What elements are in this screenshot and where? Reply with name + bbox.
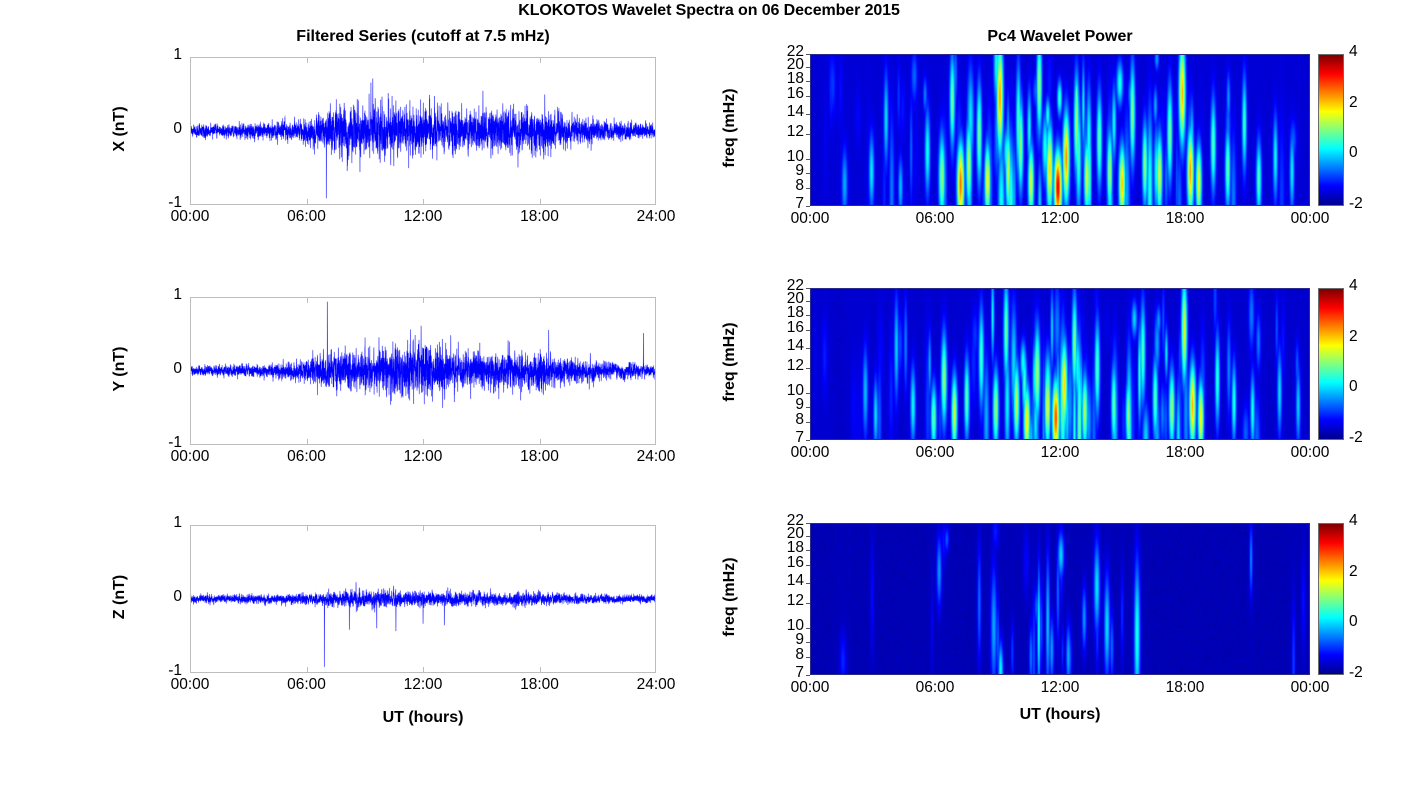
freq-tick-mark: [806, 81, 810, 82]
freq-tick-mark: [806, 565, 810, 566]
spectrogram-plot-X: [810, 54, 1310, 206]
colorbar: [1318, 288, 1344, 440]
freq-axis-label-Y: freq (mHz): [721, 282, 739, 442]
timeseries-plot-Z: [190, 525, 656, 673]
freq-tick-label: 12: [764, 357, 804, 375]
freq-tick-mark: [806, 67, 810, 68]
freq-tick-mark: [806, 330, 810, 331]
ytick-label: 1: [144, 514, 182, 532]
colorbar-tick-label: 4: [1349, 277, 1358, 295]
xtick-label: 18:00: [1140, 444, 1230, 462]
xtick-label: 24:00: [611, 448, 701, 466]
freq-axis-label-X: freq (mHz): [721, 48, 739, 208]
colorbar: [1318, 523, 1344, 675]
xtick-label: 00:00: [765, 444, 855, 462]
yaxis-label-Z: Z (nT): [111, 517, 129, 677]
right-column-title: Pc4 Wavelet Power: [810, 28, 1310, 46]
freq-tick-mark: [806, 675, 810, 676]
freq-tick-mark: [806, 348, 810, 349]
freq-tick-mark: [806, 407, 810, 408]
xtick-label: 06:00: [262, 448, 352, 466]
freq-tick-mark: [806, 206, 810, 207]
xtick-mark: [540, 667, 541, 673]
colorbar-tick-label: 2: [1349, 94, 1358, 112]
colorbar-tick-label: 0: [1349, 378, 1358, 396]
xtick-label: 18:00: [495, 448, 585, 466]
ytick-label: 0: [144, 360, 182, 378]
xtick-label: 06:00: [262, 676, 352, 694]
spectrogram-plot-Y: [810, 288, 1310, 440]
xtick-label: 12:00: [378, 676, 468, 694]
freq-tick-mark: [806, 368, 810, 369]
xtick-mark: [307, 525, 308, 531]
xtick-label: 00:00: [765, 210, 855, 228]
figure-canvas: KLOKOTOS Wavelet Spectra on 06 December …: [0, 0, 1418, 788]
left-xaxis-label: UT (hours): [190, 709, 656, 727]
xtick-label: 12:00: [378, 208, 468, 226]
colorbar: [1318, 54, 1344, 206]
xtick-mark: [307, 667, 308, 673]
freq-tick-mark: [806, 301, 810, 302]
xtick-mark: [423, 57, 424, 63]
xtick-mark: [423, 525, 424, 531]
colorbar-tick-label: -2: [1349, 429, 1363, 447]
colorbar-tick-label: 0: [1349, 144, 1358, 162]
figure-title: KLOKOTOS Wavelet Spectra on 06 December …: [0, 2, 1418, 20]
yaxis-label-Y: Y (nT): [111, 289, 129, 449]
freq-tick-label: 8: [764, 646, 804, 664]
freq-tick-mark: [806, 642, 810, 643]
colorbar-tick-label: -2: [1349, 195, 1363, 213]
freq-tick-mark: [806, 54, 810, 55]
ytick-label: 0: [144, 120, 182, 138]
xtick-mark: [423, 667, 424, 673]
colorbar-tick-label: 2: [1349, 563, 1358, 581]
xtick-label: 12:00: [1015, 679, 1105, 697]
yaxis-label-X: X (nT): [111, 49, 129, 209]
xtick-mark: [540, 525, 541, 531]
freq-tick-mark: [806, 159, 810, 160]
right-xaxis-label: UT (hours): [810, 706, 1310, 724]
colorbar-gradient: [1319, 55, 1343, 205]
xtick-mark: [307, 57, 308, 63]
freq-tick-label: 14: [764, 572, 804, 590]
left-column-title: Filtered Series (cutoff at 7.5 mHz): [190, 28, 656, 46]
xtick-mark: [540, 297, 541, 303]
freq-tick-mark: [806, 393, 810, 394]
xtick-label: 18:00: [495, 208, 585, 226]
timeseries-plot-X: [190, 57, 656, 205]
xtick-label: 06:00: [890, 679, 980, 697]
freq-tick-mark: [806, 288, 810, 289]
xtick-mark: [423, 439, 424, 445]
xtick-mark: [540, 57, 541, 63]
xtick-mark: [423, 199, 424, 205]
xtick-label: 00:00: [765, 679, 855, 697]
freq-tick-mark: [806, 583, 810, 584]
xtick-mark: [540, 199, 541, 205]
xtick-label: 24:00: [611, 208, 701, 226]
colorbar-tick-label: 0: [1349, 613, 1358, 631]
xtick-mark: [540, 439, 541, 445]
spectrogram-canvas-X: [811, 55, 1309, 205]
ytick-label: 1: [144, 46, 182, 64]
ytick-label: 0: [144, 588, 182, 606]
xtick-label: 00:00: [145, 448, 235, 466]
freq-tick-mark: [806, 523, 810, 524]
timeseries-canvas-X: [191, 58, 655, 204]
freq-tick-mark: [806, 422, 810, 423]
xtick-label: 06:00: [262, 208, 352, 226]
freq-tick-label: 8: [764, 411, 804, 429]
xtick-label: 12:00: [378, 448, 468, 466]
freq-tick-label: 14: [764, 103, 804, 121]
colorbar-tick-label: 2: [1349, 328, 1358, 346]
xtick-label: 24:00: [611, 676, 701, 694]
timeseries-canvas-Z: [191, 526, 655, 672]
freq-tick-label: 16: [764, 554, 804, 572]
freq-tick-label: 8: [764, 177, 804, 195]
freq-tick-mark: [806, 550, 810, 551]
spectrogram-canvas-Z: [811, 524, 1309, 674]
ytick-label: 1: [144, 286, 182, 304]
freq-tick-mark: [806, 603, 810, 604]
colorbar-gradient: [1319, 289, 1343, 439]
freq-tick-mark: [806, 440, 810, 441]
colorbar-gradient: [1319, 524, 1343, 674]
xtick-mark: [307, 199, 308, 205]
freq-tick-label: 12: [764, 592, 804, 610]
xtick-mark: [423, 297, 424, 303]
xtick-label: 18:00: [495, 676, 585, 694]
freq-tick-label: 16: [764, 85, 804, 103]
spectrogram-canvas-Y: [811, 289, 1309, 439]
timeseries-canvas-Y: [191, 298, 655, 444]
freq-tick-label: 16: [764, 319, 804, 337]
freq-tick-mark: [806, 114, 810, 115]
spectrogram-plot-Z: [810, 523, 1310, 675]
freq-axis-label-Z: freq (mHz): [721, 517, 739, 677]
freq-tick-label: 12: [764, 123, 804, 141]
colorbar-tick-label: 4: [1349, 512, 1358, 530]
xtick-label: 12:00: [1015, 210, 1105, 228]
freq-tick-mark: [806, 96, 810, 97]
freq-tick-mark: [806, 188, 810, 189]
xtick-label: 00:00: [1265, 444, 1355, 462]
xtick-label: 18:00: [1140, 679, 1230, 697]
freq-tick-mark: [806, 657, 810, 658]
xtick-label: 12:00: [1015, 444, 1105, 462]
xtick-mark: [307, 297, 308, 303]
timeseries-plot-Y: [190, 297, 656, 445]
xtick-label: 06:00: [890, 444, 980, 462]
xtick-label: 00:00: [145, 208, 235, 226]
xtick-label: 06:00: [890, 210, 980, 228]
xtick-label: 18:00: [1140, 210, 1230, 228]
xtick-label: 00:00: [145, 676, 235, 694]
xtick-label: 00:00: [1265, 210, 1355, 228]
freq-tick-mark: [806, 628, 810, 629]
colorbar-tick-label: -2: [1349, 664, 1363, 682]
xtick-mark: [307, 439, 308, 445]
freq-tick-label: 14: [764, 337, 804, 355]
xtick-label: 00:00: [1265, 679, 1355, 697]
freq-tick-mark: [806, 315, 810, 316]
colorbar-tick-label: 4: [1349, 43, 1358, 61]
freq-tick-mark: [806, 536, 810, 537]
freq-tick-mark: [806, 134, 810, 135]
freq-tick-mark: [806, 173, 810, 174]
